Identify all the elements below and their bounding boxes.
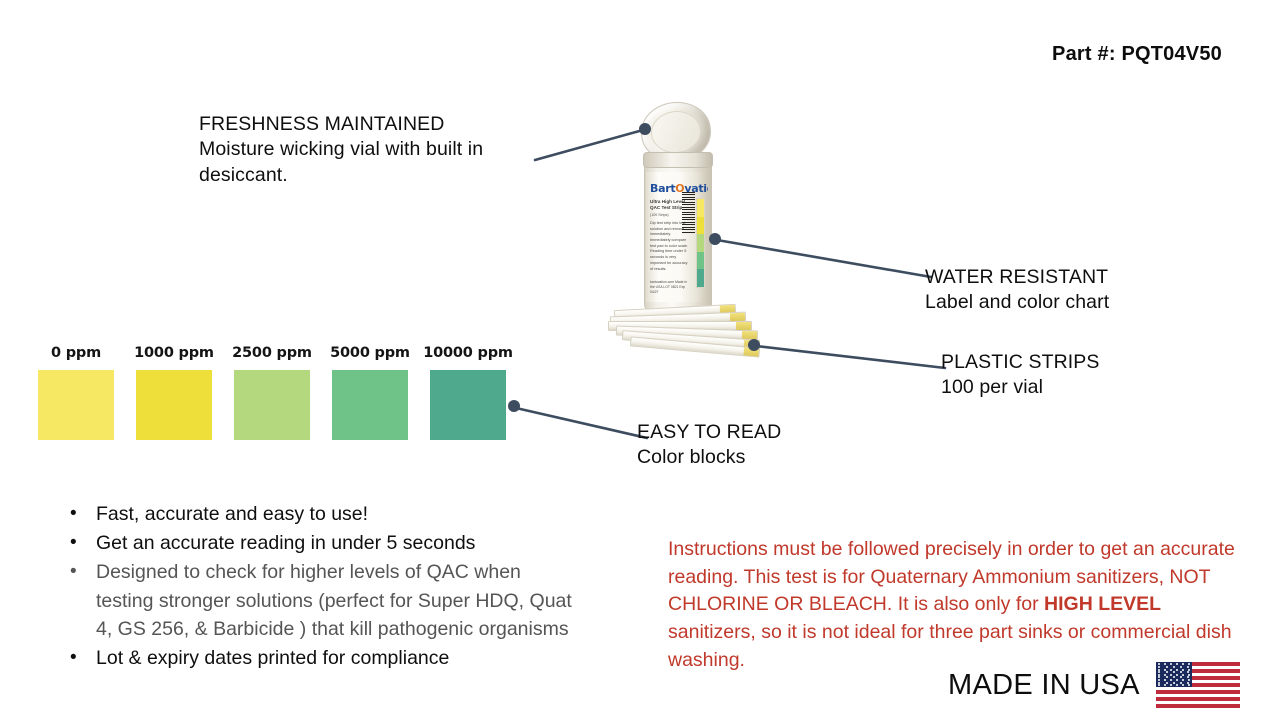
swatch-cell: 10000 ppm [430,345,506,440]
made-in-usa-label: MADE IN USA [948,669,1140,702]
swatch-color-block [332,370,408,440]
warning-emphasis: HIGH LEVEL [1044,593,1161,615]
bullet-icon: • [60,644,96,672]
feature-item: •Designed to check for higher levels of … [60,558,580,645]
strip-reagent-pad [730,313,745,322]
swatch-cell: 2500 ppm [234,345,310,440]
callout-plastic-strips: PLASTIC STRIPS 100 per vial [941,350,1261,401]
label-scale-block [697,199,704,217]
callout-read-title: EASY TO READ [637,420,937,445]
callout-freshness: FRESHNESS MAINTAINED Moisture wicking vi… [199,112,549,188]
feature-text: Get an accurate reading in under 5 secon… [96,529,580,558]
flag-star-icon [1164,684,1166,686]
callout-freshness-title: FRESHNESS MAINTAINED [199,112,549,137]
flag-star-icon [1176,684,1178,686]
label-scale-block [697,252,704,270]
feature-text: Fast, accurate and easy to use! [96,500,580,529]
swatch-label: 1000 ppm [134,345,214,361]
made-in-usa: MADE IN USA [948,662,1240,708]
callout-strips-title: PLASTIC STRIPS [941,350,1261,375]
label-scale-block [697,234,704,252]
flag-star-icon [1170,684,1172,686]
swatch-color-block [430,370,506,440]
part-number: Part #: PQT04V50 [1052,43,1222,66]
feature-item: •Lot & expiry dates printed for complian… [60,644,580,673]
swatch-cell: 5000 ppm [332,345,408,440]
label-footer: bartovation.com Made in the USA LOT 0821… [650,280,690,295]
swatch-label: 2500 ppm [232,345,312,361]
flag-star-row [1156,684,1192,686]
flag-canton [1156,662,1192,687]
label-scale-block [697,217,704,235]
callout-water-resistant: WATER RESISTANT Label and color chart [925,265,1255,316]
flag-stripe [1156,704,1240,708]
us-flag-icon [1156,662,1240,708]
bullet-icon: • [60,529,96,557]
leader-line-water [705,225,935,285]
feature-list: •Fast, accurate and easy to use!•Get an … [60,500,580,673]
label-scale-block [697,269,704,287]
flag-star-icon [1188,684,1190,686]
leader-line-read [505,398,650,443]
callout-easy-to-read: EASY TO READ Color blocks [637,420,937,471]
swatch-label: 10000 ppm [423,345,513,361]
swatch-cell: 1000 ppm [136,345,212,440]
callout-water-title: WATER RESISTANT [925,265,1255,290]
flag-star-icon [1158,684,1160,686]
label-color-scale [696,198,705,288]
swatch-color-block [136,370,212,440]
feature-text: Lot & expiry dates printed for complianc… [96,644,580,673]
flag-star-icon [1182,684,1184,686]
bullet-icon: • [60,500,96,528]
swatch-label: 0 ppm [51,345,101,361]
leader-line-freshness [533,112,663,172]
feature-text: Designed to check for higher levels of Q… [96,558,580,645]
warning-text: Instructions must be followed precisely … [668,536,1243,674]
swatch-label: 5000 ppm [330,345,410,361]
vial-label: BartOvation Ultra High Level QAC Test St… [646,172,708,302]
brand-text-before: Bart [650,182,675,195]
feature-item: •Fast, accurate and easy to use! [60,500,580,529]
swatch-color-block [38,370,114,440]
swatch-color-block [234,370,310,440]
bullet-icon: • [60,558,96,586]
callout-read-sub: Color blocks [637,445,937,470]
product-infographic-slide: Part #: PQT04V50 BartOvation Ultra High … [0,0,1280,720]
feature-item: •Get an accurate reading in under 5 seco… [60,529,580,558]
callout-water-sub: Label and color chart [925,290,1255,315]
leader-line-strips [745,336,950,376]
callout-freshness-sub: Moisture wicking vial with built in desi… [199,137,549,188]
barcode-icon [682,192,695,234]
ppm-color-chart: 0 ppm1000 ppm2500 ppm5000 ppm10000 ppm [38,345,506,440]
callout-strips-sub: 100 per vial [941,375,1261,400]
swatch-cell: 0 ppm [38,345,114,440]
brand-logo: BartOvation [650,182,708,195]
